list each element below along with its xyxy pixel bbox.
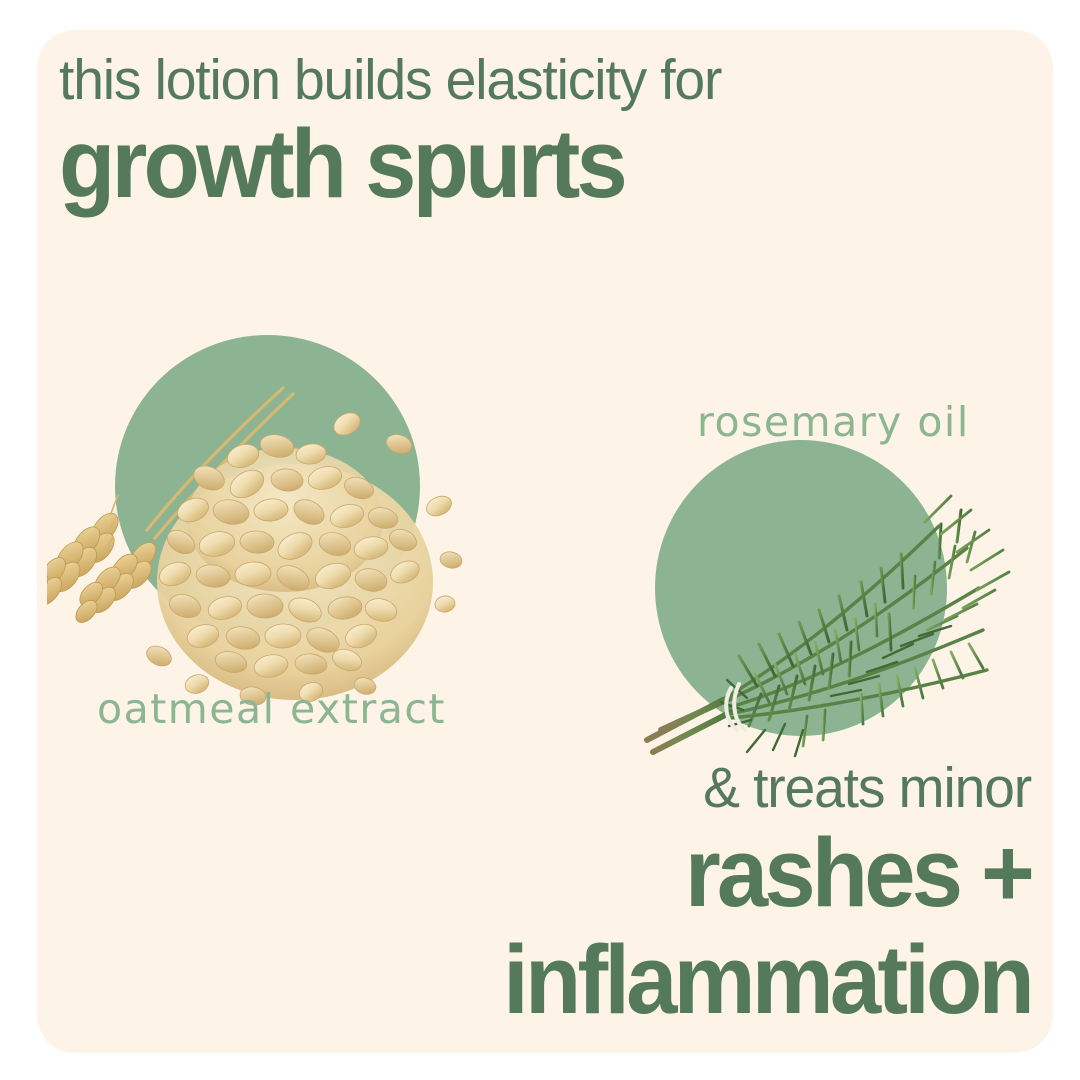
headline-top-light-line: this lotion builds elasticity for — [59, 52, 971, 109]
headline-top: this lotion builds elasticity for growth… — [59, 52, 999, 214]
poster-canvas: this lotion builds elasticity for growth… — [0, 0, 1080, 1080]
headline-bottom-bold-line-2: inflammation — [119, 930, 1031, 1031]
headline-bottom: & treats minor rashes + inflammation — [71, 760, 1031, 1031]
headline-bottom-bold-line-1: rashes + — [119, 823, 1031, 924]
rosemary-blob-circle — [655, 440, 947, 736]
ingredient-label-oatmeal: oatmeal extract — [97, 685, 446, 733]
headline-top-bold-line: growth spurts — [59, 115, 952, 214]
oatmeal-blob-circle — [115, 335, 420, 637]
headline-bottom-light-line: & treats minor — [100, 760, 1031, 817]
cream-card: this lotion builds elasticity for growth… — [37, 30, 1053, 1053]
ingredient-label-rosemary: rosemary oil — [697, 398, 970, 446]
